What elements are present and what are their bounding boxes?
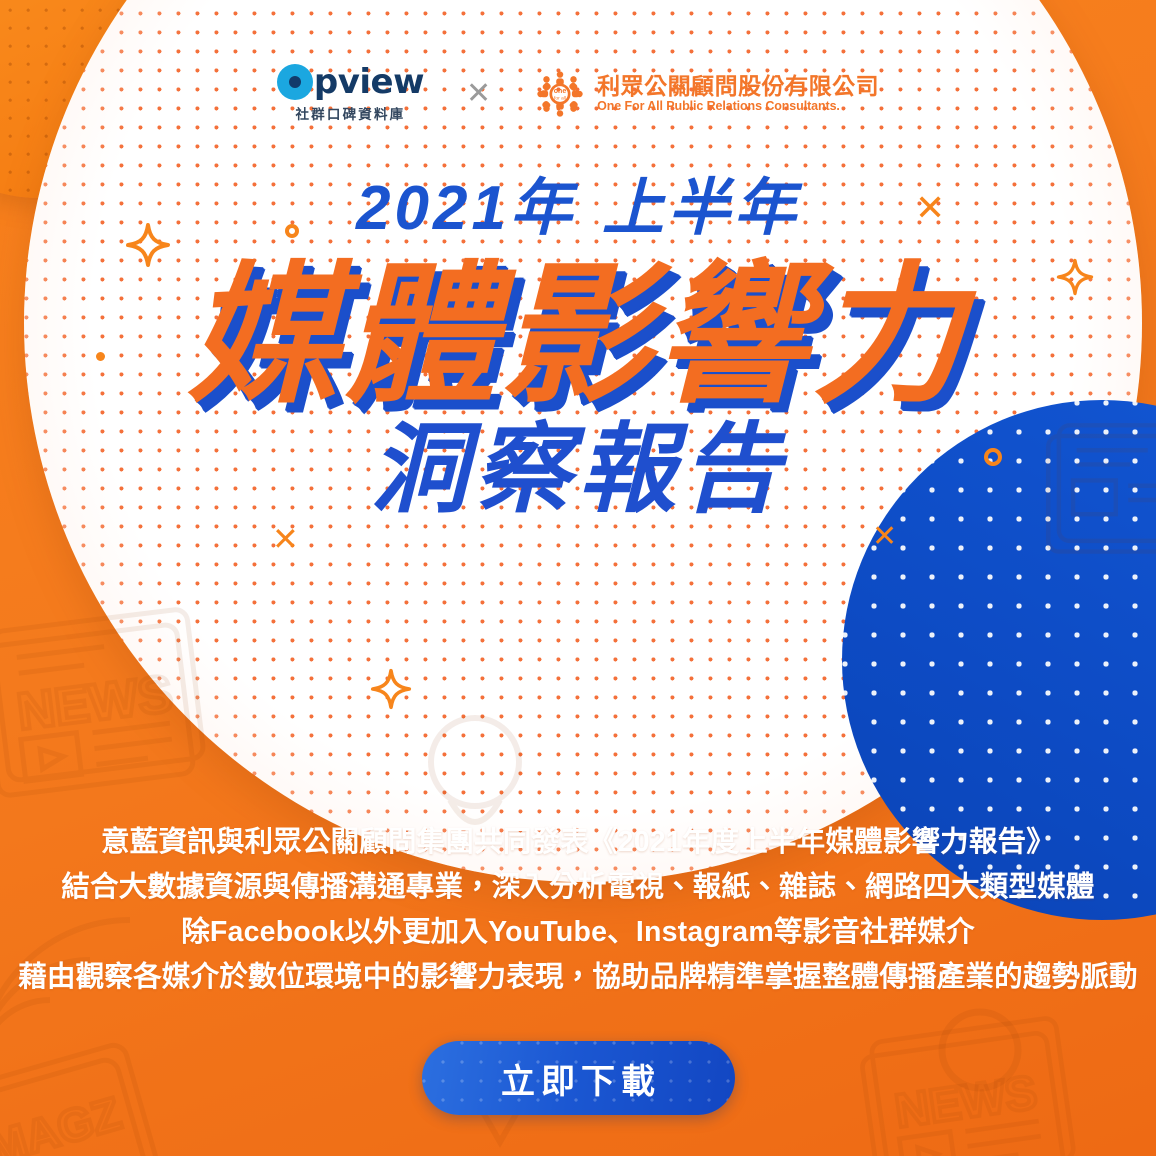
opview-wordmark-text: pview	[314, 65, 424, 99]
x-mark-icon: ✕	[272, 523, 299, 555]
headline-year-line: 2021年上半年	[0, 178, 1156, 240]
headline-sub-title: 洞察報告	[0, 419, 1156, 522]
partner-text: 利眾公關顧問股份有限公司 One For All Public Relation…	[597, 74, 879, 113]
body-copy-line: 意藍資訊與利眾公關顧問集團共同發表《2021年度上半年媒體影響力報告》	[0, 820, 1156, 865]
logo-bar: pview 社群口碑資料庫 ✕ one for all	[0, 64, 1156, 123]
partner-name-en: One For All Public Relations Consultants…	[597, 99, 879, 113]
one-for-all-people-circle-icon: one for all	[533, 67, 587, 121]
partner-name-cn: 利眾公關顧問股份有限公司	[597, 74, 879, 98]
headline-main-title: 媒體影響力	[0, 258, 1156, 413]
body-copy-line: 結合大數據資源與傳播溝通專業，深入分析電視、報紙、雜誌、網路四大類型媒體	[0, 865, 1156, 910]
download-button[interactable]: 立即下載	[422, 1041, 735, 1115]
opview-logo[interactable]: pview 社群口碑資料庫	[277, 64, 424, 123]
download-button-label: 立即下載	[501, 1054, 661, 1103]
svg-text:for all: for all	[554, 95, 566, 101]
headline-block: 2021年上半年 媒體影響力 洞察報告	[0, 178, 1156, 522]
opview-tagline: 社群口碑資料庫	[295, 103, 405, 123]
four-point-star-icon	[370, 668, 412, 715]
content-layer: pview 社群口碑資料庫 ✕ one for all	[0, 0, 1156, 1156]
opview-o-icon	[277, 64, 313, 100]
svg-text:one: one	[554, 87, 567, 94]
partner-logo[interactable]: one for all	[533, 67, 879, 121]
poster-canvas: NEWS NEWS MAGZ	[0, 0, 1156, 1156]
headline-half: 上半年	[602, 174, 800, 243]
logo-separator-x-icon: ✕	[466, 79, 491, 109]
x-mark-icon: ✕	[872, 522, 897, 552]
cta-area: 立即下載	[0, 1041, 1156, 1115]
headline-year: 2021年	[356, 174, 576, 243]
body-copy-line: 除Facebook以外更加入YouTube、Instagram等影音社群媒介	[0, 910, 1156, 955]
body-copy-line: 藉由觀察各媒介於數位環境中的影響力表現，協助品牌精準掌握整體傳播產業的趨勢脈動	[0, 955, 1156, 1000]
opview-wordmark: pview	[277, 64, 424, 100]
body-copy: 意藍資訊與利眾公關顧問集團共同發表《2021年度上半年媒體影響力報告》 結合大數…	[0, 820, 1156, 1000]
